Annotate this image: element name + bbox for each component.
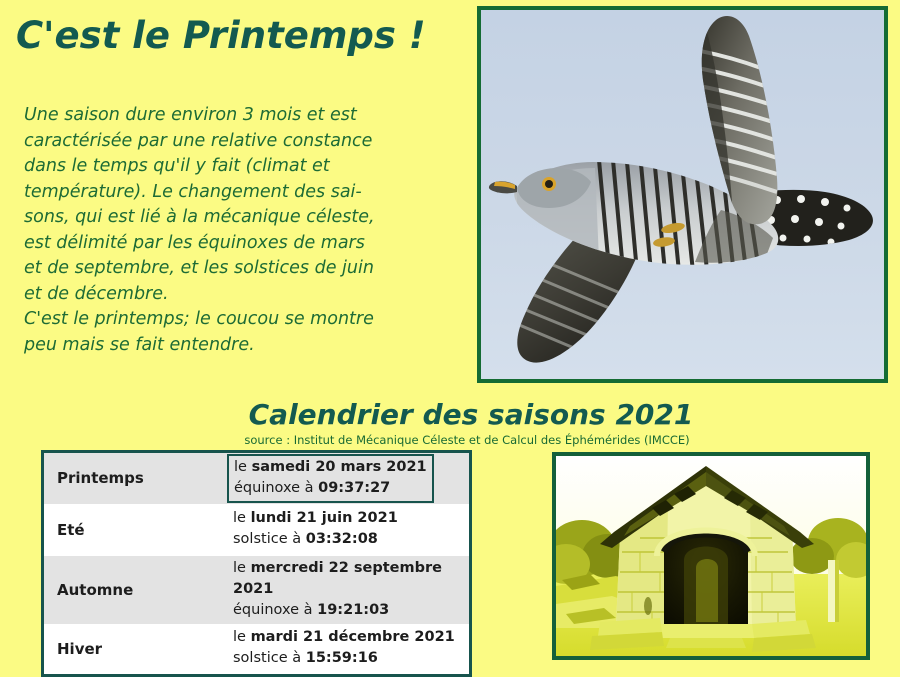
date-value: mercredi 22 septembre 2021 — [233, 560, 442, 597]
table-row[interactable]: Automne le mercredi 22 septembre 2021 éq… — [43, 556, 471, 624]
intro-line: est délimité par les équinoxes de mars — [24, 231, 454, 257]
date-value: samedi 20 mars 2021 — [252, 459, 427, 475]
intro-line: C'est le printemps; le coucou se montre — [24, 307, 454, 333]
calendar-heading: Calendrier des saisons 2021 — [0, 398, 900, 431]
time-value: 09:37:27 — [318, 480, 390, 496]
date-value: lundi 21 juin 2021 — [251, 510, 398, 526]
stone-hut-borie-photo — [552, 452, 870, 660]
table-row[interactable]: Printemps le samedi 20 mars 2021 équinox… — [43, 452, 471, 504]
cuckoo-illustration — [481, 10, 884, 379]
table-row[interactable]: Hiver le mardi 21 décembre 2021 solstice… — [43, 624, 471, 676]
intro-line: et de décembre. — [24, 282, 454, 308]
event-label: solstice à — [233, 650, 301, 666]
time-value: 03:32:08 — [306, 531, 378, 547]
time-value: 15:59:16 — [306, 650, 378, 666]
intro-line: peu mais se fait entendre. — [24, 333, 454, 359]
intro-line: caractérisée par une relative constance — [24, 129, 454, 155]
event-label: équinoxe à — [233, 602, 313, 618]
season-name-cell: Automne — [43, 556, 221, 624]
calendar-source: source : Institut de Mécanique Céleste e… — [0, 433, 900, 447]
fence-post — [828, 560, 839, 622]
date-prefix: le — [233, 560, 246, 576]
table-row[interactable]: Eté le lundi 21 juin 2021 solstice à 03:… — [43, 504, 471, 556]
season-name-cell: Eté — [43, 504, 221, 556]
event-label: équinoxe à — [234, 480, 314, 496]
season-name-cell: Printemps — [43, 452, 221, 504]
intro-paragraph: Une saison dure environ 3 mois et est ca… — [24, 103, 454, 358]
calendar-source-text: source : Institut de Mécanique Céleste e… — [210, 433, 689, 447]
calendar-heading-text: Calendrier des saisons 2021 — [207, 398, 694, 431]
intro-line: dans le temps qu'il y fait (climat et — [24, 154, 454, 180]
date-box: le mardi 21 décembre 2021 solstice à 15:… — [227, 625, 461, 672]
date-value: mardi 21 décembre 2021 — [251, 629, 455, 645]
season-date-cell: le mercredi 22 septembre 2021 équinoxe à… — [220, 556, 471, 624]
seasons-table: Printemps le samedi 20 mars 2021 équinox… — [41, 450, 472, 677]
date-prefix: le — [233, 629, 246, 645]
season-date-cell: le samedi 20 mars 2021 équinoxe à 09:37:… — [220, 452, 471, 504]
date-box: le lundi 21 juin 2021 solstice à 03:32:0… — [227, 506, 404, 553]
stone-hut-illustration — [556, 456, 866, 656]
intro-line: et de septembre, et les solstices de jui… — [24, 256, 454, 282]
cuckoo-photo-canvas — [481, 10, 884, 379]
date-prefix: le — [234, 459, 247, 475]
date-prefix: le — [233, 510, 246, 526]
season-date-cell: le mardi 21 décembre 2021 solstice à 15:… — [220, 624, 471, 676]
highlighted-date-box: le samedi 20 mars 2021 équinoxe à 09:37:… — [227, 454, 434, 503]
intro-line: température). Le changement des sai- — [24, 180, 454, 206]
time-value: 19:21:03 — [317, 602, 389, 618]
intro-line: Une saison dure environ 3 mois et est — [24, 103, 454, 129]
season-date-cell: le lundi 21 juin 2021 solstice à 03:32:0… — [220, 504, 471, 556]
hut-photo-canvas — [556, 456, 866, 656]
intro-line: sons, qui est lié à la mécanique céleste… — [24, 205, 454, 231]
poster-page: C'est le Printemps ! Une saison dure env… — [0, 0, 900, 675]
date-box: le mercredi 22 septembre 2021 équinoxe à… — [227, 556, 469, 624]
season-name-cell: Hiver — [43, 624, 221, 676]
event-label: solstice à — [233, 531, 301, 547]
cuckoo-in-flight-photo — [477, 6, 888, 383]
page-title: C'est le Printemps ! — [16, 14, 426, 57]
